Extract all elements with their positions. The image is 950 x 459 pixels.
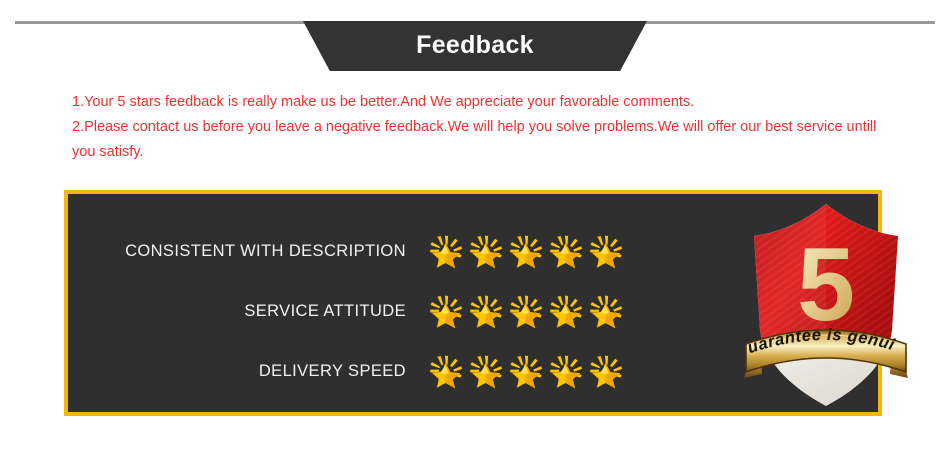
shield-badge-icon: 5 guarantee is genuine bbox=[740, 202, 912, 410]
rating-row: SERVICE ATTITUDE bbox=[94, 282, 664, 340]
rating-panel: CONSISTENT WITH DESCRIPTION SERVICE ATTI… bbox=[64, 190, 882, 416]
rating-stars[interactable] bbox=[428, 353, 624, 389]
header-banner: Feedback bbox=[303, 21, 647, 71]
feedback-note-line-1: 1.Your 5 stars feedback is really make u… bbox=[72, 90, 882, 115]
sparkle-star-icon bbox=[428, 293, 464, 329]
feedback-notes: 1.Your 5 stars feedback is really make u… bbox=[72, 90, 882, 165]
sparkle-star-icon bbox=[588, 233, 624, 269]
sparkle-star-icon bbox=[548, 293, 584, 329]
sparkle-star-icon bbox=[548, 233, 584, 269]
sparkle-star-icon bbox=[508, 353, 544, 389]
rating-label: SERVICE ATTITUDE bbox=[94, 302, 428, 321]
rating-row: DELIVERY SPEED bbox=[94, 342, 664, 400]
page-header: Feedback bbox=[0, 0, 950, 78]
sparkle-star-icon bbox=[468, 233, 504, 269]
rating-label: CONSISTENT WITH DESCRIPTION bbox=[94, 242, 428, 261]
feedback-note-line-2: 2.Please contact us before you leave a n… bbox=[72, 115, 882, 165]
page-title: Feedback bbox=[416, 33, 534, 58]
sparkle-star-icon bbox=[588, 353, 624, 389]
sparkle-star-icon bbox=[428, 353, 464, 389]
sparkle-star-icon bbox=[548, 353, 584, 389]
sparkle-star-icon bbox=[588, 293, 624, 329]
rating-stars[interactable] bbox=[428, 233, 624, 269]
sparkle-star-icon bbox=[468, 353, 504, 389]
rating-row-list: CONSISTENT WITH DESCRIPTION SERVICE ATTI… bbox=[94, 222, 664, 402]
sparkle-star-icon bbox=[428, 233, 464, 269]
rating-row: CONSISTENT WITH DESCRIPTION bbox=[94, 222, 664, 280]
sparkle-star-icon bbox=[468, 293, 504, 329]
rating-stars[interactable] bbox=[428, 293, 624, 329]
sparkle-star-icon bbox=[508, 233, 544, 269]
badge-number: 5 bbox=[797, 227, 855, 343]
rating-label: DELIVERY SPEED bbox=[94, 362, 428, 381]
sparkle-star-icon bbox=[508, 293, 544, 329]
